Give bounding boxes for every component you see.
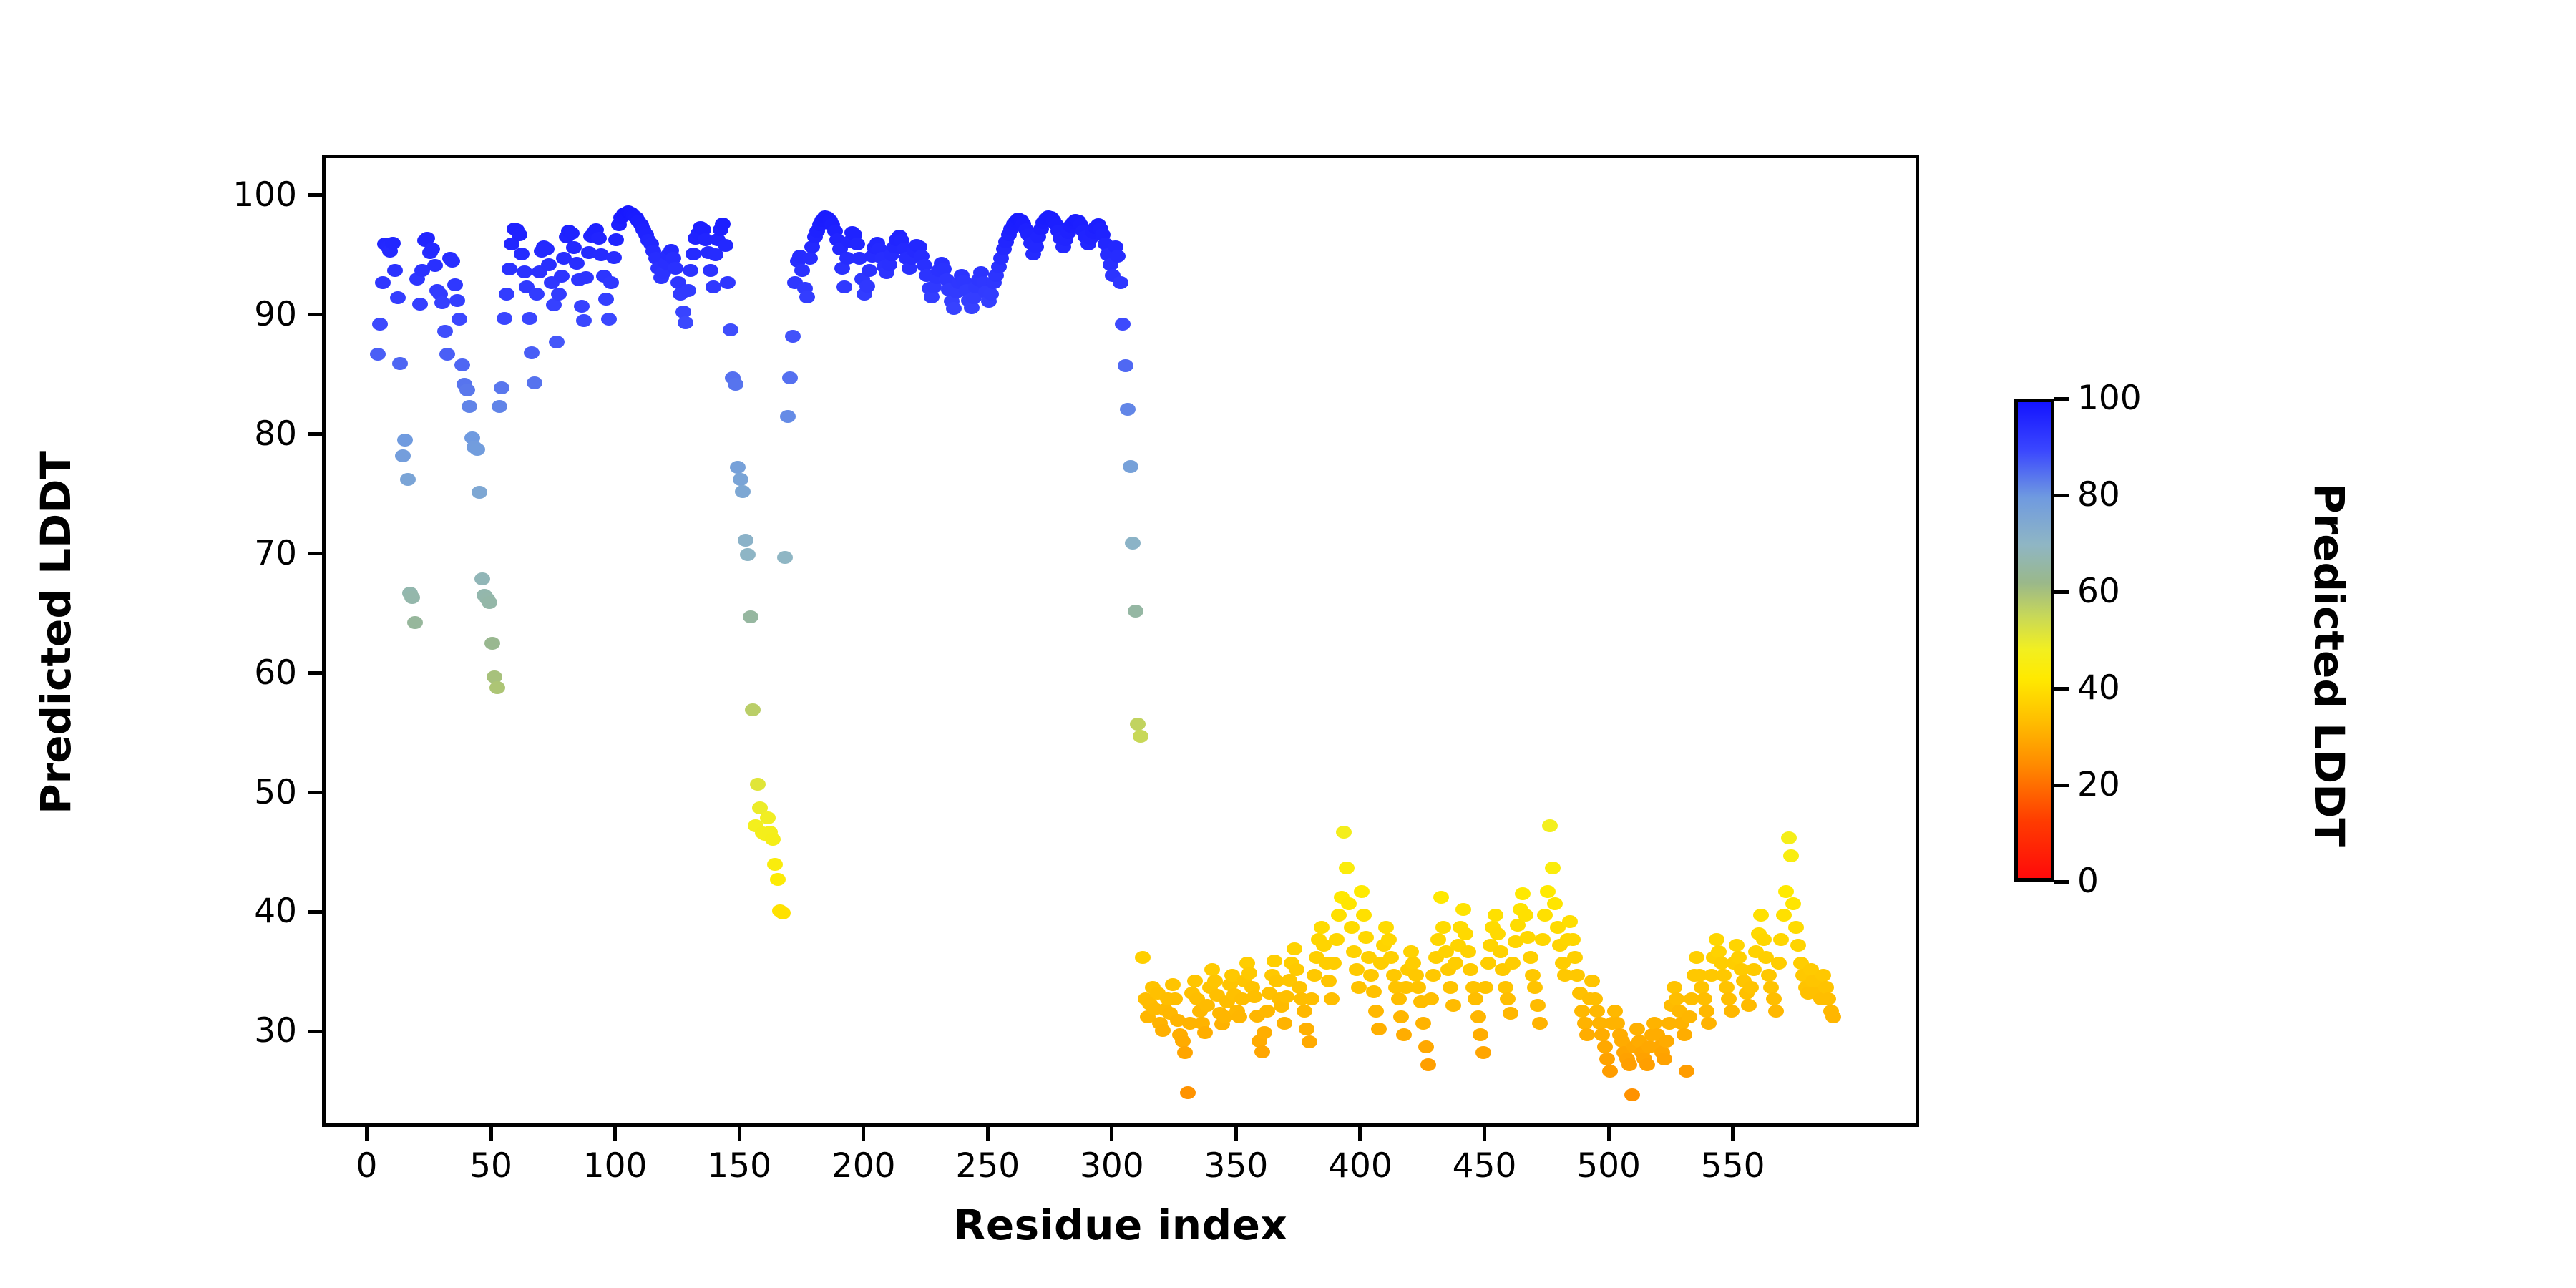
scatter-point [718, 239, 733, 252]
scatter-point [447, 278, 463, 291]
scatter-point [449, 294, 465, 307]
y-tick-mark [308, 671, 322, 675]
scatter-point [554, 270, 570, 283]
scatter-point [728, 378, 743, 391]
scatter-point [1386, 969, 1402, 982]
scatter-point [489, 681, 505, 694]
scatter-point [474, 572, 490, 585]
scatter-point [452, 313, 467, 326]
scatter-point [1778, 885, 1794, 898]
scatter-point [1135, 951, 1151, 964]
scatter-point [1307, 969, 1322, 982]
scatter-point [1423, 992, 1439, 1005]
scatter-point [1768, 1005, 1784, 1018]
scatter-point [1448, 957, 1463, 970]
scatter-point [1410, 981, 1426, 994]
scatter-point [1155, 1024, 1171, 1037]
scatter-point [777, 551, 793, 564]
scatter-point [1180, 1086, 1196, 1099]
scatter-point [802, 252, 818, 265]
scatter-point [1574, 1005, 1590, 1018]
scatter-point [472, 486, 487, 499]
scatter-point [1689, 951, 1704, 964]
scatter-point [514, 248, 530, 260]
scatter-point [454, 358, 470, 371]
scatter-point [743, 610, 758, 623]
scatter-point [1123, 460, 1138, 473]
scatter-point [760, 811, 776, 824]
scatter-point [794, 264, 810, 277]
scatter-point [1204, 963, 1220, 976]
scatter-point [1721, 992, 1737, 1005]
scatter-point [404, 591, 420, 604]
scatter-point [392, 357, 408, 370]
scatter-point [484, 637, 500, 650]
scatter-point [598, 293, 614, 306]
y-tick-mark [308, 552, 322, 555]
scatter-point [1669, 992, 1684, 1005]
x-tick-label: 350 [1164, 1149, 1307, 1183]
scatter-point [1493, 945, 1508, 958]
colorbar-tick-mark [2054, 590, 2069, 594]
scatter-point [1587, 992, 1603, 1005]
scatter-point [1405, 957, 1421, 970]
scatter-point [1741, 999, 1757, 1012]
scatter-point [1326, 957, 1342, 970]
scatter-point [1396, 1028, 1412, 1041]
scatter-point [1468, 992, 1483, 1005]
scatter-point [1391, 992, 1407, 1005]
colorbar-tick-mark [2054, 397, 2069, 401]
scatter-point [1788, 921, 1804, 934]
scatter-point [1418, 1040, 1434, 1053]
scatter-point [372, 318, 388, 331]
x-tick-label: 100 [544, 1149, 687, 1183]
scatter-point [1639, 1058, 1655, 1071]
scatter-point [1537, 909, 1553, 922]
scatter-point [720, 276, 736, 289]
y-tick-label: 40 [254, 894, 297, 928]
scatter-point [782, 371, 798, 384]
scatter-point [775, 907, 791, 919]
scatter-point [1518, 909, 1533, 922]
scatter-point [566, 241, 582, 254]
x-tick-mark [1731, 1127, 1735, 1141]
scatter-point [1488, 909, 1503, 922]
y-tick-mark [308, 791, 322, 794]
scatter-point [1753, 909, 1769, 922]
scatter-point [1246, 990, 1262, 1003]
scatter-point [668, 262, 683, 275]
colorbar-tick-label: 40 [2077, 671, 2120, 705]
scatter-point [1505, 957, 1521, 970]
scatter-point [427, 259, 443, 272]
scatter-point [395, 449, 411, 462]
x-tick-mark [738, 1127, 741, 1141]
scatter-point [1711, 945, 1727, 958]
scatter-point [1435, 921, 1451, 934]
scatter-point [1433, 891, 1449, 904]
scatter-point [715, 218, 731, 230]
scatter-point [462, 400, 477, 413]
scatter-point [1177, 1046, 1193, 1059]
scatter-point [1761, 969, 1777, 982]
scatter-point [494, 381, 509, 394]
scatter-point [407, 616, 423, 629]
x-tick-mark [986, 1127, 990, 1141]
y-tick-label: 30 [254, 1014, 297, 1048]
scatter-point [1594, 1028, 1610, 1041]
scatter-point [1463, 963, 1478, 976]
scatter-point [1520, 931, 1536, 944]
scatter-point [1530, 999, 1546, 1012]
scatter-point [862, 264, 877, 277]
scatter-point [1584, 975, 1600, 987]
y-tick-mark [308, 313, 322, 316]
scatter-point [1110, 250, 1126, 263]
scatter-point [1475, 1046, 1491, 1059]
scatter-point [767, 858, 783, 871]
scatter-point [1130, 718, 1146, 731]
scatter-point [1304, 992, 1319, 1005]
scatter-point [512, 228, 527, 241]
scatter-point [983, 288, 999, 301]
scatter-point [397, 434, 413, 447]
scatter-point [1815, 969, 1831, 982]
scatter-point [424, 243, 440, 255]
scatter-point [1783, 849, 1799, 862]
scatter-point [1540, 885, 1556, 898]
scatter-point [1535, 933, 1551, 946]
scatter-point [1820, 992, 1836, 1005]
scatter-point [1415, 1017, 1431, 1030]
scatter-point [1297, 1005, 1312, 1018]
scatter-point [1351, 981, 1367, 994]
y-tick-label: 80 [254, 417, 297, 451]
scatter-point [740, 548, 756, 561]
scatter-point [1729, 939, 1745, 952]
scatter-point [1776, 909, 1792, 922]
scatter-point [606, 251, 622, 264]
scatter-point [591, 232, 607, 245]
x-tick-label: 200 [792, 1149, 935, 1183]
scatter-point [1773, 933, 1789, 946]
scatter-point [1368, 1005, 1384, 1018]
scatter-point [1498, 981, 1513, 994]
scatter-point [1657, 1053, 1672, 1065]
scatter-point [400, 473, 416, 486]
scatter-point [1458, 927, 1473, 940]
scatter-point [541, 258, 557, 271]
scatter-point [1354, 885, 1370, 898]
scatter-point [849, 238, 865, 250]
scatter-point [836, 280, 852, 293]
y-tick-label: 90 [254, 298, 297, 331]
scatter-point [1118, 359, 1133, 372]
scatter-point [437, 325, 453, 338]
colorbar-tick-mark [2054, 687, 2069, 691]
colorbar-tick-mark [2054, 880, 2069, 884]
scatter-point [1115, 318, 1131, 331]
scatter-point [765, 833, 781, 846]
scatter-point [1567, 951, 1583, 964]
x-tick-mark [1607, 1127, 1611, 1141]
scatter-point [459, 384, 475, 396]
colorbar-title: Predicted LDDT [2305, 379, 2353, 951]
scatter-point [529, 288, 545, 301]
scatter-point [1329, 933, 1345, 946]
scatter-point [1455, 903, 1471, 916]
scatter-point [1818, 981, 1834, 994]
scatter-point [1746, 963, 1762, 976]
x-tick-label: 450 [1413, 1149, 1556, 1183]
scatter-point [1443, 981, 1458, 994]
scatter-point [1602, 1065, 1618, 1078]
scatter-point [1420, 1058, 1436, 1071]
scatter-point [1646, 1017, 1662, 1030]
scatter-point [482, 596, 497, 609]
scatter-point [1697, 992, 1712, 1005]
scatter-point [1579, 1028, 1595, 1041]
plot-frame [322, 155, 1919, 1127]
scatter-point [1292, 981, 1307, 994]
scatter-point [1577, 1017, 1593, 1030]
scatter-point [1128, 605, 1143, 618]
scatter-point [1425, 969, 1441, 982]
y-tick-label: 60 [254, 656, 297, 690]
scatter-point [1339, 862, 1355, 874]
scatter-point [574, 300, 590, 313]
scatter-point [1113, 276, 1128, 289]
chart-root: Predicted LDDT 10090807060504030 0501001… [0, 0, 2576, 1288]
scatter-point [1381, 933, 1397, 946]
scatter-point [1331, 909, 1347, 922]
scatter-point [1719, 981, 1735, 994]
scatter-point [1363, 969, 1379, 982]
scatter-point [723, 323, 738, 336]
scatter-point [1336, 826, 1352, 839]
scatter-point [469, 443, 485, 456]
scatter-point [434, 296, 450, 309]
x-tick-label: 150 [668, 1149, 811, 1183]
scatter-point [686, 248, 701, 260]
y-tick-mark [308, 910, 322, 914]
scatter-point [1545, 862, 1561, 874]
scatter-point [1743, 981, 1759, 994]
scatter-point [1197, 1026, 1213, 1039]
scatter-point [608, 233, 624, 246]
scatter-point [1383, 951, 1399, 964]
scatter-point [750, 778, 766, 791]
scatter-point [1694, 981, 1709, 994]
scatter-point [1120, 403, 1136, 416]
x-tick-mark [1358, 1127, 1362, 1141]
scatter-point [601, 313, 617, 326]
scatter-point [390, 291, 406, 304]
x-tick-mark [1110, 1127, 1113, 1141]
scatter-point [1527, 981, 1543, 994]
scatter-point [1207, 975, 1223, 987]
scatter-point [375, 276, 391, 289]
scatter-point [735, 485, 751, 498]
scatter-point [1766, 992, 1782, 1005]
scatter-point [946, 302, 962, 315]
scatter-point [527, 376, 542, 389]
x-axis-title: Residue index [0, 1201, 2241, 1249]
scatter-point [780, 410, 796, 423]
scatter-point [1125, 537, 1141, 550]
scatter-point [1349, 963, 1365, 976]
scatter-point [1287, 942, 1302, 955]
colorbar-tick-label: 80 [2077, 478, 2120, 512]
x-tick-mark [365, 1127, 369, 1141]
scatter-point [1356, 909, 1372, 922]
scatter-point [497, 312, 512, 325]
scatter-point [1500, 992, 1516, 1005]
y-tick-label: 100 [233, 178, 297, 212]
scatter-point [499, 288, 514, 301]
scatter-point [551, 288, 567, 301]
colorbar-tick-label: 100 [2077, 381, 2142, 415]
scatter-point [1825, 1010, 1841, 1023]
scatter-point [1597, 1040, 1613, 1053]
scatter-point [385, 237, 401, 250]
scatter-point [492, 400, 507, 413]
scatter-point [1478, 981, 1493, 994]
x-tick-label: 550 [1662, 1149, 1805, 1183]
scatter-point [1503, 1007, 1518, 1020]
scatter-point [1621, 1058, 1637, 1071]
colorbar-tick-mark [2054, 784, 2069, 787]
scatter-point [1547, 897, 1563, 910]
scatter-point [1299, 1023, 1314, 1035]
scatter-point [546, 298, 562, 311]
scatter-point [1756, 933, 1772, 946]
colorbar-tick-label: 60 [2077, 575, 2120, 608]
y-tick-label: 50 [254, 776, 297, 809]
scatter-point [1279, 990, 1294, 1003]
x-tick-mark [1234, 1127, 1238, 1141]
scatter-point [738, 534, 753, 547]
scatter-point [1460, 945, 1476, 958]
scatter-point [1763, 981, 1779, 994]
colorbar-tick-mark [2054, 494, 2069, 497]
scatter-point [1624, 1088, 1640, 1101]
scatter-point [680, 284, 696, 297]
y-tick-mark [308, 193, 322, 197]
scatter-point [1490, 927, 1506, 940]
x-tick-mark [862, 1127, 865, 1141]
scatter-point [770, 873, 786, 886]
scatter-point [1133, 730, 1148, 743]
x-tick-label: 400 [1289, 1149, 1432, 1183]
scatter-point [1257, 1026, 1272, 1039]
scatter-point [703, 264, 718, 277]
scatter-point [387, 264, 403, 277]
scatter-point [1589, 1005, 1605, 1018]
scatter-point [1346, 945, 1362, 958]
scatter-point [1699, 1005, 1714, 1018]
y-axis-title: Predicted LDDT [31, 311, 80, 955]
y-tick-mark [308, 1030, 322, 1033]
x-tick-label: 250 [916, 1149, 1059, 1183]
scatter-point [1701, 1017, 1717, 1030]
scatter-point [1241, 967, 1257, 980]
scatter-point [549, 336, 565, 348]
scatter-point [785, 330, 801, 343]
scatter-point [524, 346, 540, 359]
scatter-point [1724, 1005, 1740, 1018]
scatter-point [1542, 819, 1558, 832]
scatter-point [1277, 1017, 1292, 1030]
scatter-point [1569, 969, 1585, 982]
scatter-point [578, 271, 594, 284]
scatter-point [1321, 975, 1337, 987]
scatter-point [603, 276, 619, 289]
scatter-point [1254, 1045, 1270, 1058]
scatter-point [439, 348, 455, 361]
x-tick-mark [1483, 1127, 1486, 1141]
scatter-point [1525, 969, 1541, 982]
scatter-point [1302, 1035, 1317, 1048]
scatter-point [745, 703, 761, 716]
scatter-point [1599, 1053, 1615, 1065]
scatter-point [1231, 1010, 1247, 1023]
scatter-point [1523, 951, 1538, 964]
scatter-point [1667, 981, 1682, 994]
scatter-plot-area [326, 158, 1916, 1123]
scatter-point [1716, 969, 1732, 982]
scatter-point [1371, 1023, 1387, 1035]
colorbar-gradient [2014, 399, 2054, 882]
scatter-point [1682, 1010, 1697, 1023]
scatter-point [1790, 939, 1806, 952]
scatter-point [1781, 831, 1797, 844]
x-tick-mark [489, 1127, 493, 1141]
scatter-point [1609, 1017, 1625, 1030]
scatter-point [1659, 1035, 1674, 1048]
scatter-point [1771, 957, 1787, 970]
x-tick-label: 300 [1040, 1149, 1184, 1183]
scatter-point [1175, 1035, 1191, 1048]
scatter-point [1565, 933, 1581, 946]
scatter-point [1324, 992, 1340, 1005]
y-tick-label: 70 [254, 537, 297, 570]
colorbar [2014, 399, 2054, 882]
x-tick-label: 0 [295, 1149, 438, 1183]
scatter-point [706, 280, 721, 293]
scatter-point [1165, 978, 1181, 991]
scatter-point [444, 255, 460, 268]
scatter-point [1679, 1065, 1694, 1078]
scatter-point [1709, 933, 1724, 946]
x-tick-label: 500 [1537, 1149, 1680, 1183]
x-tick-label: 50 [419, 1149, 562, 1183]
scatter-point [1167, 992, 1183, 1005]
scatter-point [730, 461, 746, 474]
scatter-point [1785, 897, 1801, 910]
scatter-point [412, 298, 428, 311]
scatter-point [539, 243, 555, 255]
scatter-point [1187, 975, 1203, 987]
scatter-point [1289, 963, 1304, 976]
scatter-point [1408, 969, 1424, 982]
scatter-point [1403, 945, 1419, 958]
scatter-point [517, 265, 532, 278]
scatter-point [564, 227, 580, 240]
scatter-point [1473, 1028, 1488, 1041]
scatter-point [678, 316, 693, 329]
